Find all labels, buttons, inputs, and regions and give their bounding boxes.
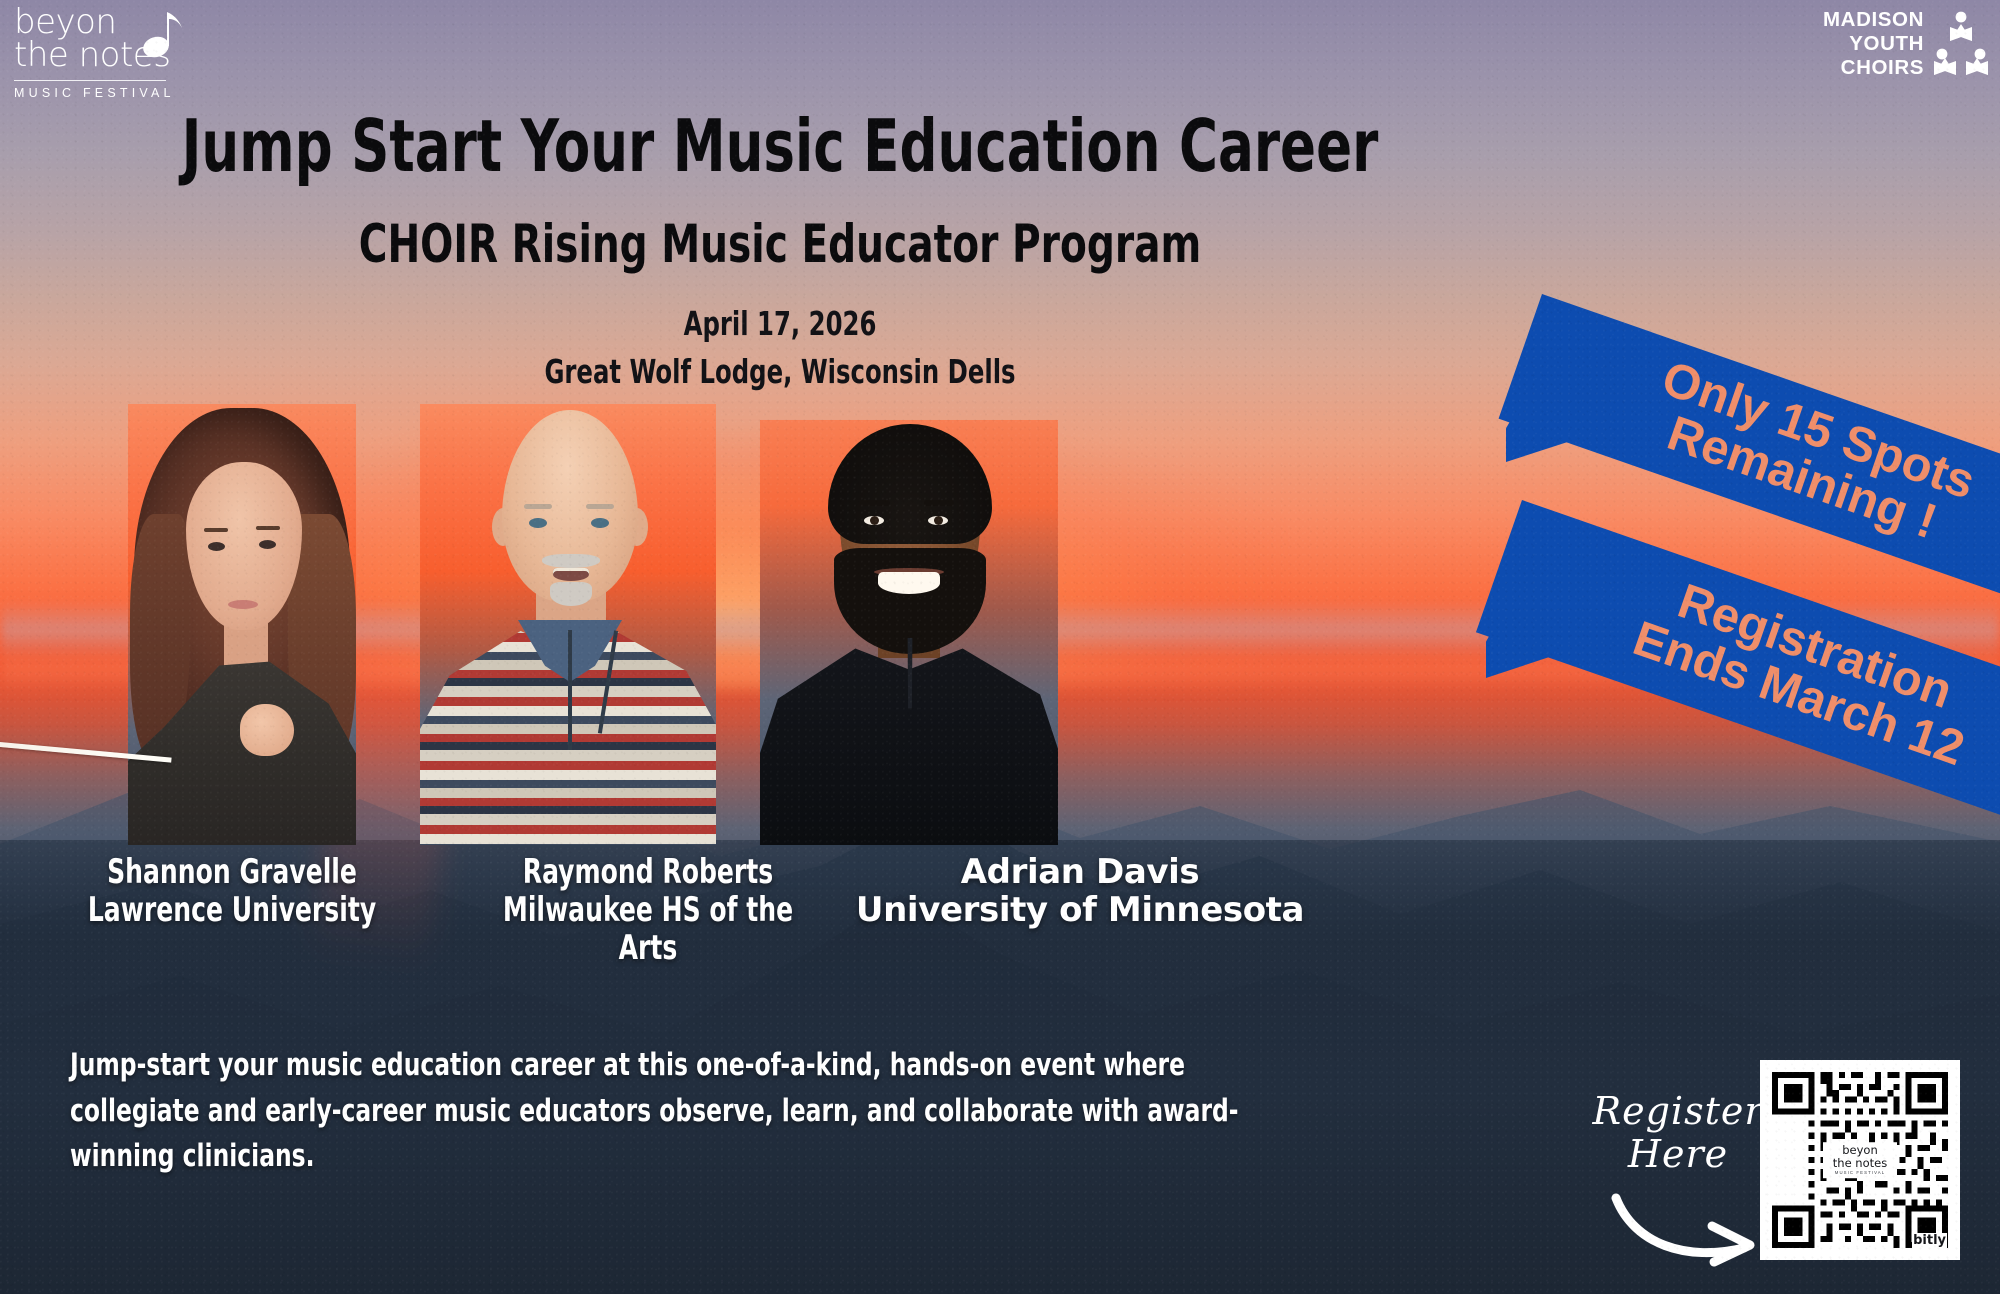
- presenter-name: Raymond Roberts: [476, 853, 820, 891]
- presenter-affiliation: Lawrence University: [60, 891, 404, 929]
- portrait-adrian-davis: [760, 420, 1058, 845]
- beyond-the-notes-logo[interactable]: beyon the notes MUSIC FESTIVAL: [14, 6, 194, 100]
- three-singers-icon: [1934, 11, 1988, 77]
- registration-qr-code[interactable]: beyon the notes MUSIC FESTIVAL bitly: [1760, 1060, 1960, 1260]
- presenter-caption: Adrian Davis University of Minnesota: [840, 853, 1320, 929]
- presenter-caption: Raymond Roberts Milwaukee HS of the Arts: [476, 853, 820, 967]
- banner-text: Registration Ends March 12: [1627, 567, 1986, 775]
- presenter-name: Shannon Gravelle: [60, 853, 404, 891]
- page-title: Jump Start Your Music Education Career: [140, 104, 1419, 188]
- qr-center-logo: beyon the notes MUSIC FESTIVAL: [1823, 1142, 1897, 1178]
- register-here-text: Register Here: [1578, 1090, 1778, 1175]
- partner-line-1: MADISON: [1823, 8, 1924, 32]
- qr-code-icon: beyon the notes MUSIC FESTIVAL bitly: [1772, 1072, 1948, 1248]
- partner-line-3: CHOIRS: [1823, 56, 1924, 80]
- qr-provider-label: bitly: [1912, 1233, 1947, 1248]
- register-line-2: Here: [1578, 1133, 1778, 1176]
- madison-youth-choirs-logo[interactable]: MADISON YOUTH CHOIRS: [1823, 8, 1988, 81]
- register-here-callout: Register Here: [1578, 1090, 1778, 1260]
- qr-logo-line-3: MUSIC FESTIVAL: [1825, 1170, 1895, 1175]
- partner-logo-text: MADISON YOUTH CHOIRS: [1823, 8, 1924, 81]
- music-note-icon: [142, 8, 184, 60]
- event-venue: Great Wolf Lodge, Wisconsin Dells: [140, 352, 1419, 391]
- poster-canvas: beyon the notes MUSIC FESTIVAL MADISON Y…: [0, 0, 2000, 1294]
- logo-tagline: MUSIC FESTIVAL: [14, 86, 194, 100]
- logo-divider: [14, 80, 166, 81]
- presenter-affiliation: University of Minnesota: [840, 891, 1320, 929]
- presenter-affiliation: Milwaukee HS of the Arts: [476, 891, 820, 967]
- qr-logo-line-2: the notes: [1825, 1157, 1895, 1169]
- event-date: April 17, 2026: [140, 304, 1419, 343]
- partner-line-2: YOUTH: [1823, 32, 1924, 56]
- presenter-name: Adrian Davis: [840, 853, 1320, 891]
- curved-arrow-icon: [1608, 1182, 1778, 1268]
- portrait-shannon-gravelle: [128, 404, 356, 845]
- register-line-1: Register: [1578, 1090, 1778, 1133]
- banner-registration-deadline: Registration Ends March 12: [1486, 500, 2000, 800]
- portrait-raymond-roberts: [420, 404, 716, 845]
- event-description: Jump-start your music education career a…: [70, 1043, 1263, 1180]
- program-subtitle: CHOIR Rising Music Educator Program: [140, 214, 1419, 275]
- qr-logo-line-1: beyon: [1825, 1145, 1895, 1157]
- ribbon-band: Registration Ends March 12: [1476, 500, 2000, 826]
- presenter-caption: Shannon Gravelle Lawrence University: [60, 853, 404, 929]
